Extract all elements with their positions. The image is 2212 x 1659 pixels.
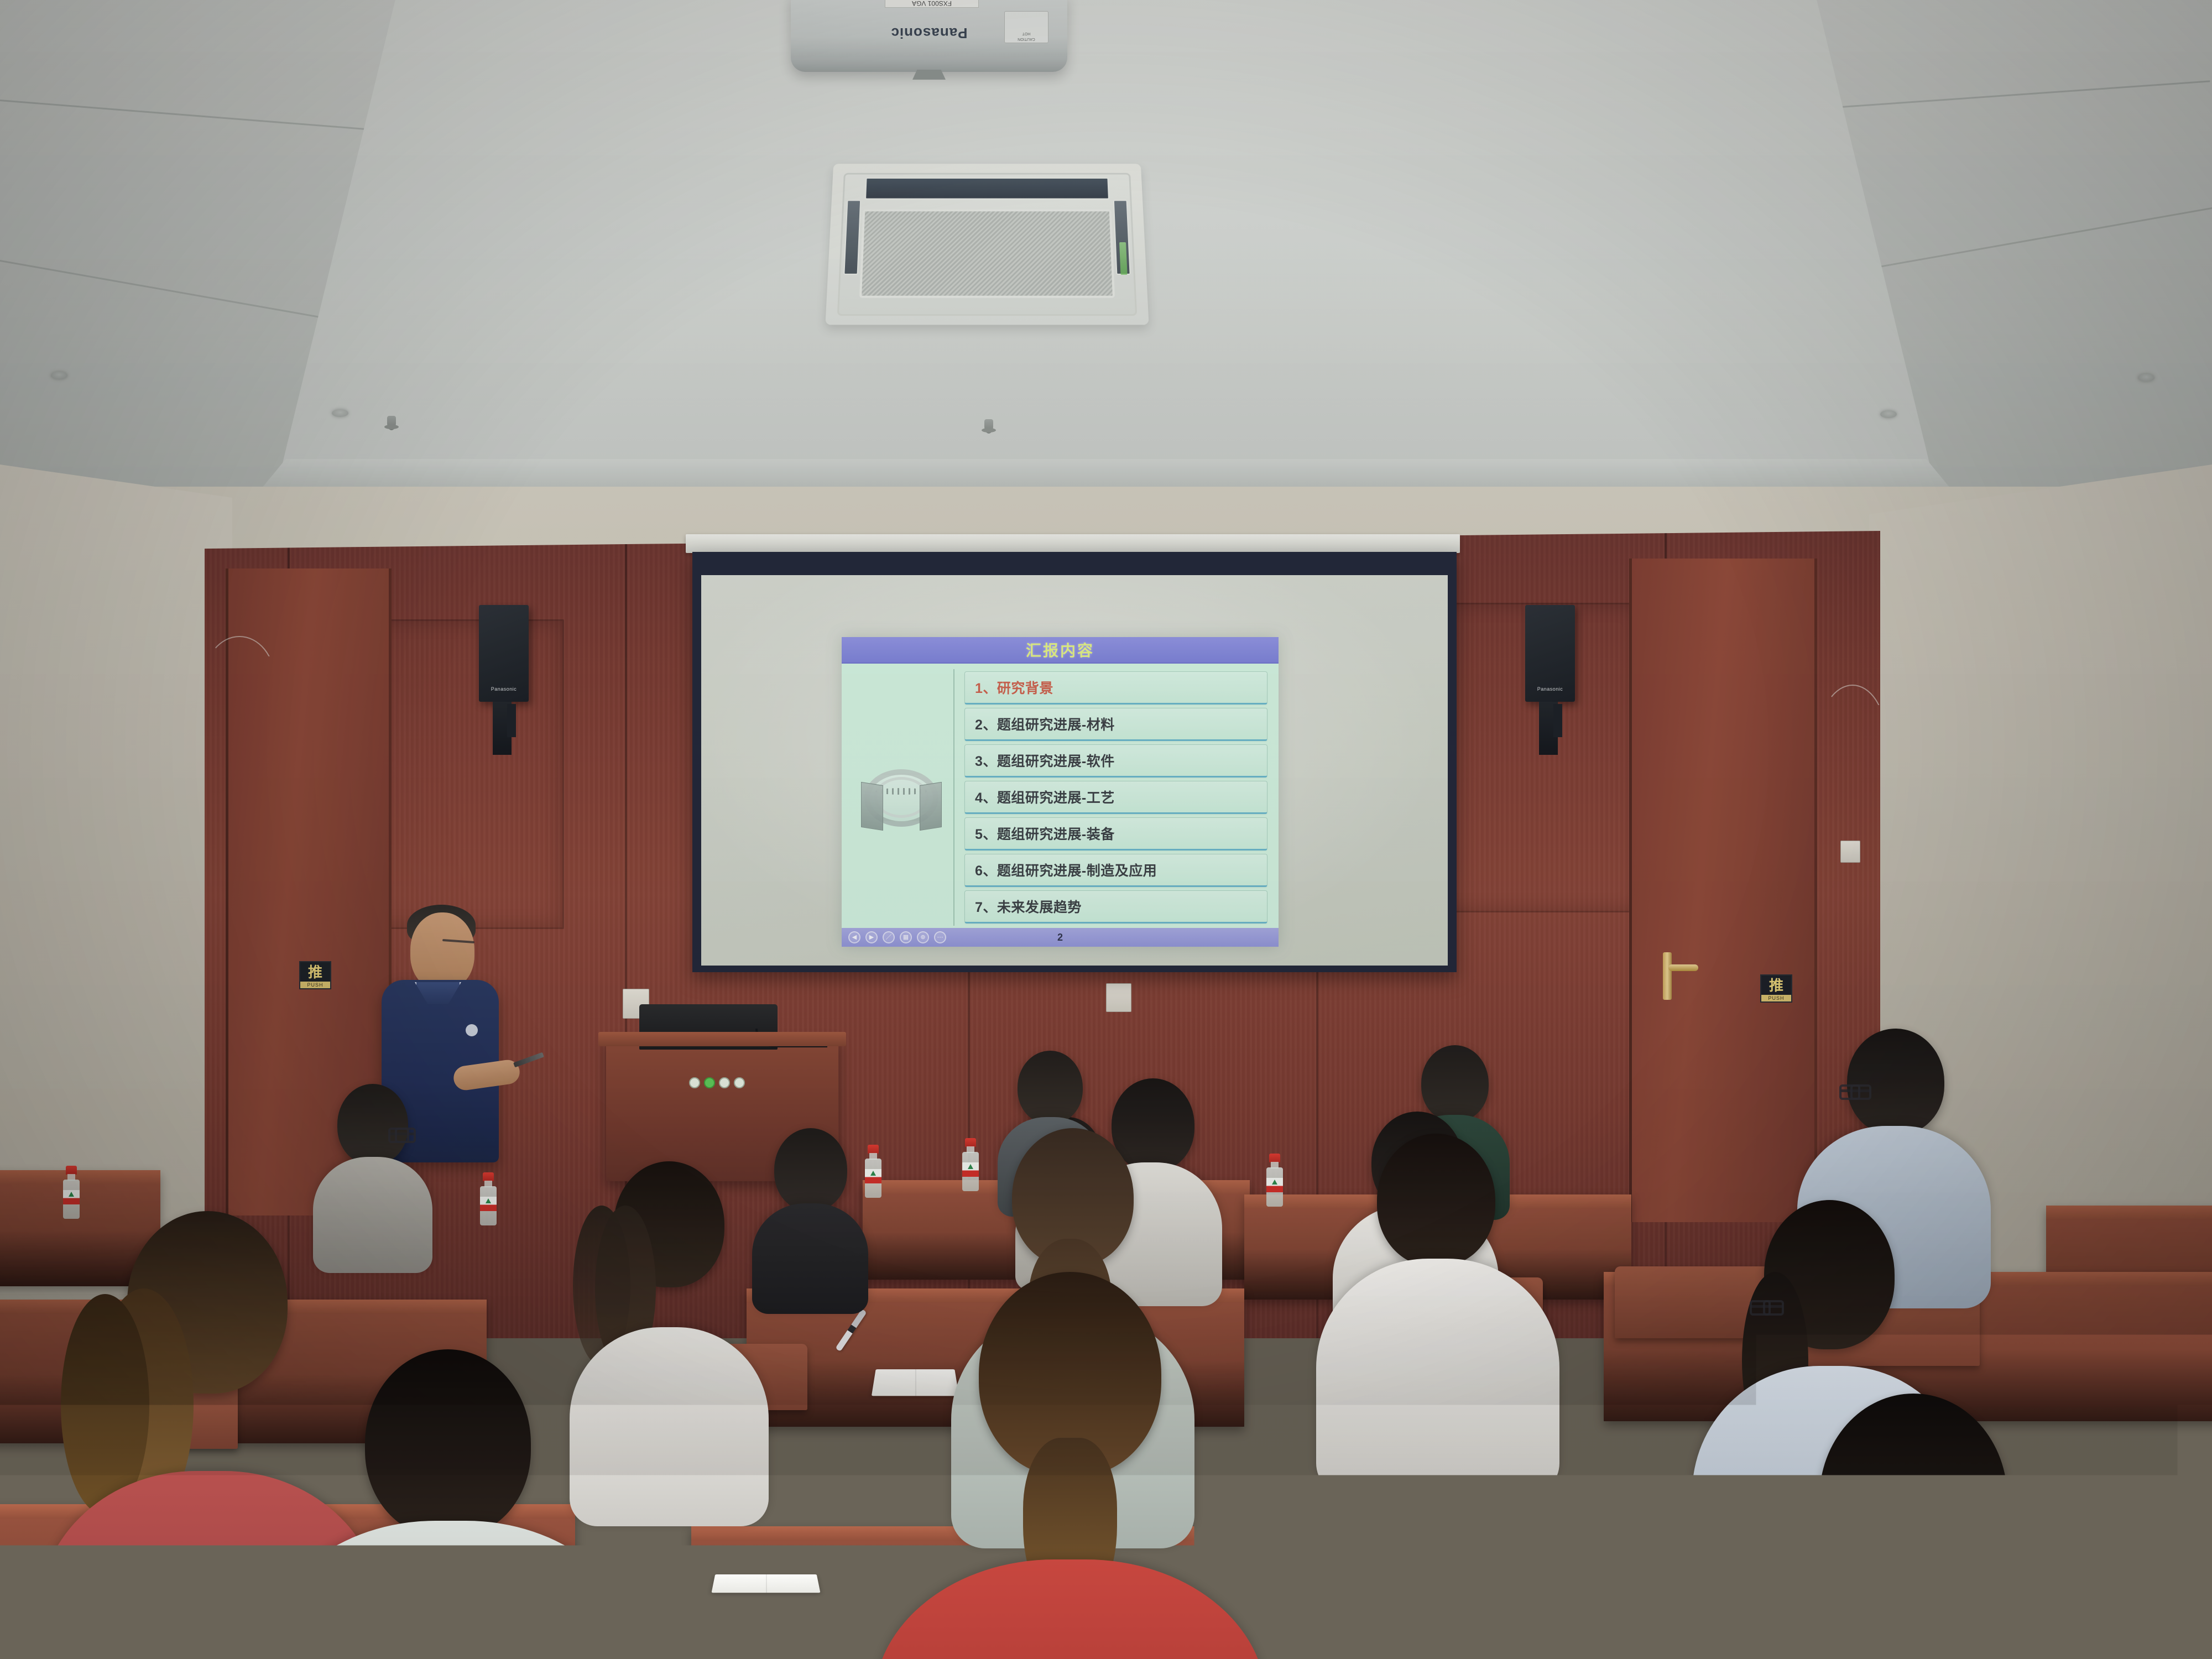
agenda-label: 题组研究进展-制造及应用: [997, 860, 1157, 880]
water-bottle: [1265, 1154, 1284, 1207]
turbine-casing-ring-icon: [860, 761, 943, 833]
projection-screen-housing: [686, 534, 1460, 553]
ceiling-projector: FXS001 VGA 0005474 Panasonic CAUTION HOT: [791, 0, 1067, 72]
agenda-label: 题组研究进展-装备: [997, 823, 1115, 843]
open-notebook: [872, 1369, 959, 1396]
glasses-icon: [1840, 1089, 1870, 1092]
podium-control-buttons[interactable]: [689, 1077, 745, 1088]
slide-title-bar: 汇报内容: [842, 637, 1279, 664]
wall-outlet-plate[interactable]: [1840, 841, 1860, 863]
slide-agenda-item-2: 2、 题组研究进展-材料: [964, 708, 1267, 741]
sprinkler-head: [387, 416, 396, 430]
ceiling-ac-unit: [825, 164, 1149, 325]
water-bottle: [864, 1145, 883, 1198]
podium-button-1[interactable]: [689, 1077, 700, 1088]
agenda-label: 未来发展趋势: [997, 896, 1082, 916]
pen-icon[interactable]: ／: [883, 931, 895, 943]
lecture-hall-scene: FXS001 VGA 0005474 Panasonic CAUTION HOT: [0, 0, 2212, 1659]
recessed-downlight: [1880, 410, 1897, 418]
speaker-bracket: [1539, 702, 1558, 755]
door-sign-push-right: 推 PUSH: [1760, 974, 1792, 1003]
agenda-label: 题组研究进展-软件: [997, 750, 1115, 770]
all-slides-icon[interactable]: ▦: [900, 931, 912, 943]
open-notebook: [712, 1574, 821, 1593]
wall-speaker-left: Panasonic: [479, 605, 529, 702]
speaker-bracket: [493, 702, 512, 755]
ac-grille: [859, 209, 1115, 298]
projector-caution-plate: CAUTION HOT: [1004, 11, 1048, 43]
agenda-number: 3、: [975, 750, 997, 770]
agenda-number: 5、: [975, 823, 997, 843]
slide-agenda-item-4: 4、 题组研究进展-工艺: [964, 781, 1267, 814]
placard-text-cn: 禁烟: [1474, 1579, 1493, 1591]
projector-lens: [912, 70, 946, 80]
left-wall: [0, 465, 232, 1294]
agenda-label: 题组研究进展-工艺: [997, 787, 1115, 807]
slide-body: 1、 研究背景 2、 题组研究进展-材料 3、 题组研究进展-软件 4、 题组研…: [842, 664, 1279, 928]
agenda-number: 4、: [975, 787, 997, 807]
presentation-slide: 汇报内容 1、 研究背景 2、 题组研究进展-材料: [842, 637, 1279, 947]
speaker-brand-label: Panasonic: [491, 686, 517, 692]
door-right[interactable]: 推 PUSH: [1629, 559, 1817, 1222]
wall-switch-plate[interactable]: [1106, 983, 1131, 1012]
slide-agenda-item-1: 1、 研究背景: [964, 671, 1267, 705]
slide-presenter-toolbar: ◀ ▶ ／ ▦ ⊕ ⋯ 2: [842, 928, 1279, 947]
podium-button-4[interactable]: [734, 1077, 745, 1088]
agenda-number: 6、: [975, 860, 997, 880]
glasses-icon: [389, 1133, 415, 1135]
slide-agenda-item-5: 5、 题组研究进展-装备: [964, 817, 1267, 851]
recessed-downlight: [332, 409, 348, 417]
zoom-icon[interactable]: ⊕: [917, 931, 929, 943]
smartphone[interactable]: [1543, 1609, 1626, 1652]
slide-agenda-item-6: 6、 题组研究进展-制造及应用: [964, 854, 1267, 887]
projector-asset-sticker: FXS001 VGA 0005474: [885, 0, 979, 8]
placard-text-en: NO SMOKING: [1468, 1591, 1499, 1595]
water-bottle: [479, 1172, 498, 1225]
slide-figure: [849, 669, 954, 926]
shirt-logo: [466, 1024, 478, 1036]
glasses-icon: [1751, 1305, 1783, 1308]
slide-agenda-item-7: 7、 未来发展趋势: [964, 890, 1267, 924]
door-sign-push-left: 推 PUSH: [299, 961, 331, 989]
slide-title: 汇报内容: [1026, 639, 1094, 661]
presenter-head: [410, 912, 474, 990]
projector-brand-label: Panasonic: [890, 24, 967, 41]
slide-agenda-item-3: 3、 题组研究进展-软件: [964, 744, 1267, 778]
water-bottle: [62, 1166, 81, 1219]
podium-button-2[interactable]: [704, 1077, 715, 1088]
more-options-icon[interactable]: ⋯: [934, 931, 946, 943]
agenda-label: 研究背景: [997, 677, 1053, 697]
agenda-number: 7、: [975, 896, 997, 916]
ac-indicator-leds: [1119, 242, 1128, 275]
wall-speaker-right: Panasonic: [1525, 605, 1575, 702]
speaker-brand-label: Panasonic: [1537, 686, 1563, 692]
agenda-label: 题组研究进展-材料: [997, 714, 1115, 734]
agenda-number: 2、: [975, 714, 997, 734]
sprinkler-head: [984, 419, 993, 434]
door-handle-icon[interactable]: [1663, 952, 1672, 1000]
desk-placard: 禁烟 NO SMOKING: [1452, 1576, 1514, 1598]
podium-button-3[interactable]: [719, 1077, 730, 1088]
slide-page-number: 2: [1057, 932, 1063, 943]
agenda-number: 1、: [975, 677, 997, 697]
previous-slide-icon[interactable]: ◀: [848, 931, 860, 943]
next-slide-icon[interactable]: ▶: [865, 931, 878, 943]
recessed-downlight: [2138, 374, 2154, 382]
recessed-downlight: [51, 372, 67, 379]
ac-louver: [864, 177, 1110, 200]
slide-agenda-list: 1、 研究背景 2、 题组研究进展-材料 3、 题组研究进展-软件 4、 题组研…: [954, 669, 1271, 926]
water-bottle: [961, 1138, 980, 1191]
